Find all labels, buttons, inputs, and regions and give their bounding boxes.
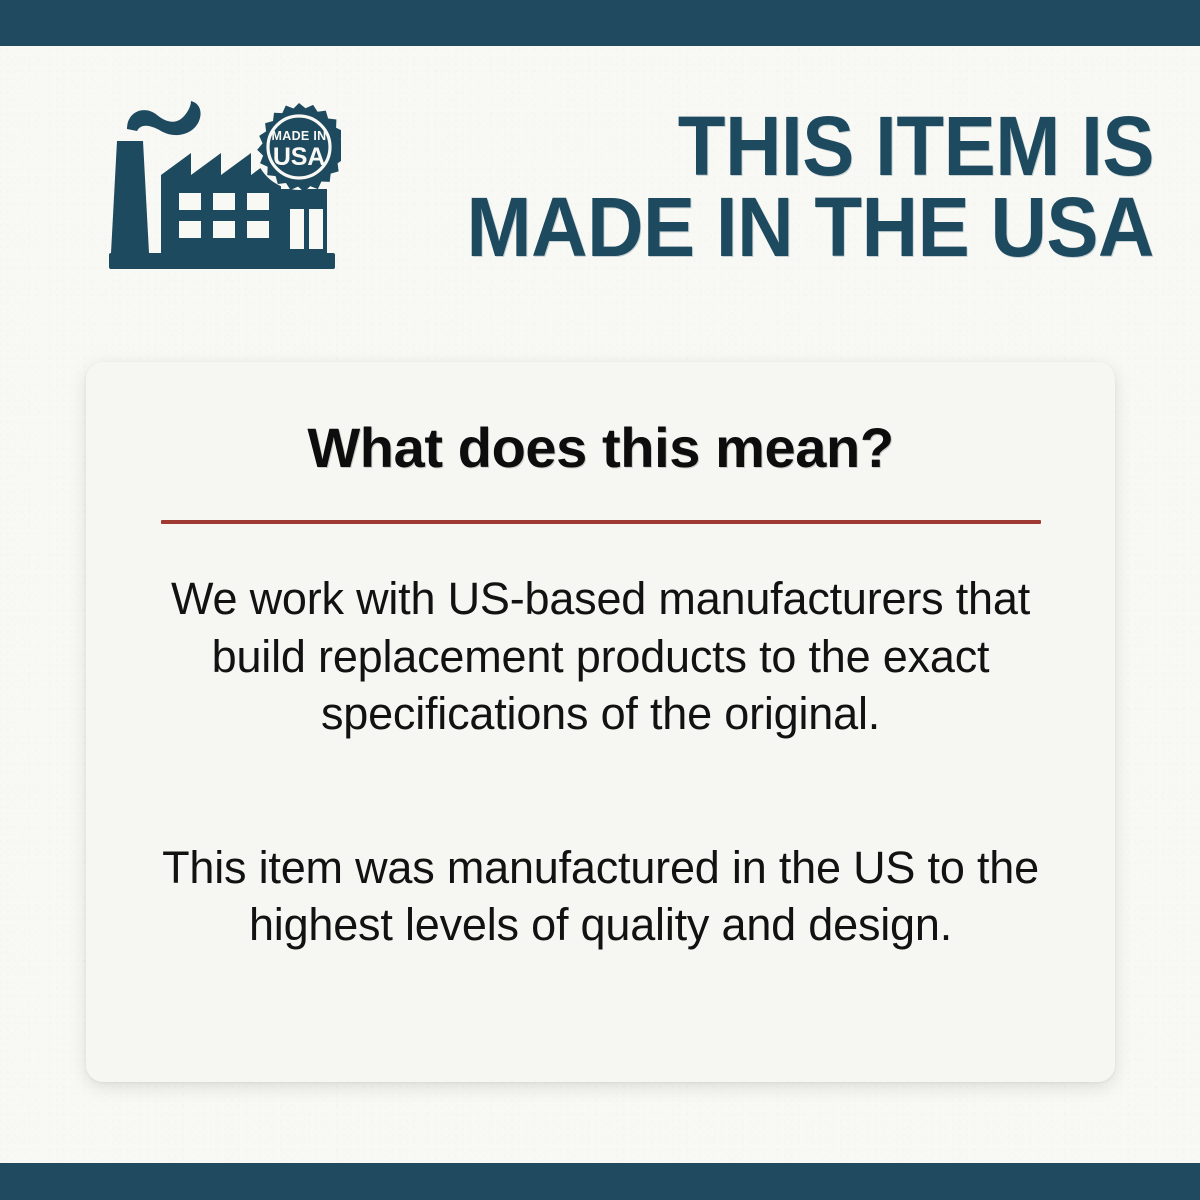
factory-icon: MADE IN USA bbox=[109, 97, 341, 277]
card-heading: What does this mean? bbox=[86, 362, 1115, 476]
badge-line1: MADE IN bbox=[272, 129, 327, 143]
explanation-card: What does this mean? We work with US-bas… bbox=[86, 362, 1115, 1082]
bottom-accent-bar bbox=[0, 1163, 1200, 1200]
badge-line2: USA bbox=[273, 143, 325, 171]
red-divider bbox=[161, 520, 1041, 524]
page-title: THIS ITEM IS MADE IN THE USA bbox=[372, 106, 1200, 269]
body-paragraph-1: We work with US-based manufacturers that… bbox=[142, 570, 1059, 743]
top-accent-bar bbox=[0, 0, 1200, 46]
title-line-1: THIS ITEM IS bbox=[427, 106, 1154, 187]
card-body: We work with US-based manufacturers that… bbox=[86, 570, 1115, 954]
body-paragraph-2: This item was manufactured in the US to … bbox=[142, 839, 1059, 954]
header-banner: MADE IN USA THIS ITEM IS MADE IN THE USA bbox=[0, 82, 1200, 292]
brand-logo-container: MADE IN USA bbox=[100, 97, 350, 277]
title-line-2: MADE IN THE USA bbox=[427, 187, 1154, 268]
